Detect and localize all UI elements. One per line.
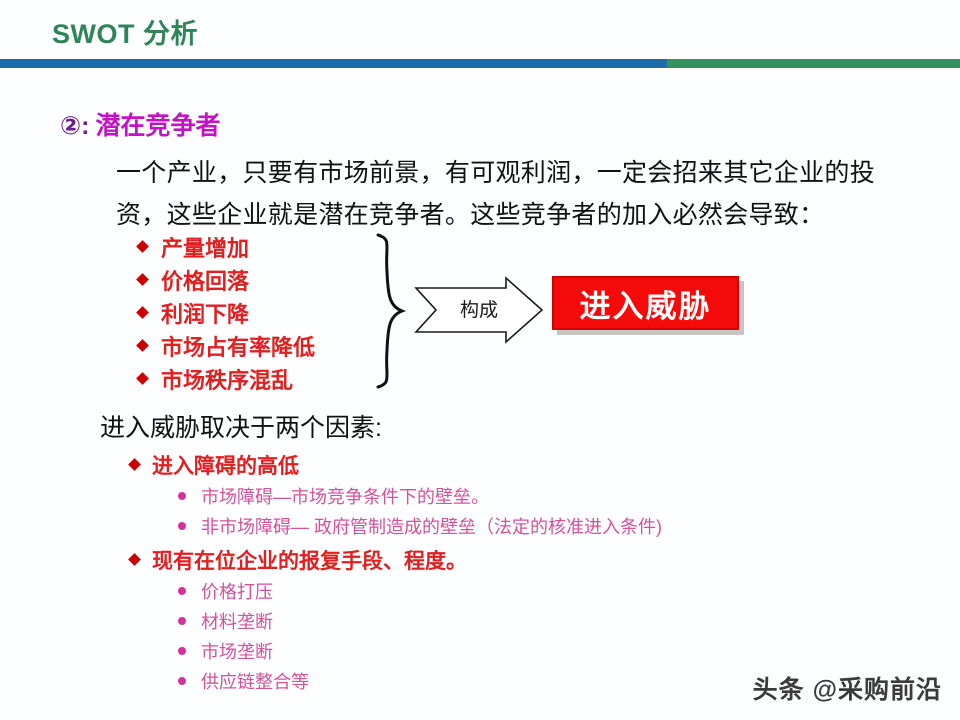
list-item-label: 市场占有率降低 bbox=[161, 330, 315, 362]
consequence-list: 产量增加 价格回落 利润下降 市场占有率降低 市场秩序混乱 bbox=[138, 230, 388, 395]
watermark: 头条 @采购前沿 bbox=[753, 670, 942, 706]
list-item: 市场障碍—市场竞争条件下的壁垒。 bbox=[178, 481, 860, 511]
list-item: 非市场障碍— 政府管制造成的壁垒（法定的核准进入条件) bbox=[178, 511, 860, 541]
diamond-bullet-icon bbox=[136, 306, 149, 319]
list-item-label: 市场秩序混乱 bbox=[161, 363, 293, 395]
list-item: 市场占有率降低 bbox=[138, 329, 388, 362]
factor-head-label: 现有在位企业的报复手段、程度。 bbox=[152, 545, 467, 575]
threat-callout-box: 进入威胁 bbox=[552, 276, 739, 330]
diamond-bullet-icon bbox=[128, 458, 141, 471]
header-rule-green-segment bbox=[667, 59, 960, 68]
header-divider-rule bbox=[0, 59, 960, 68]
factor-group: 现有在位企业的报复手段、程度。 价格打压 材料垄断 市场垄断 供应链整合等 bbox=[100, 543, 860, 696]
flow-arrow-label: 构成 bbox=[444, 295, 514, 322]
threat-callout-label: 进入威胁 bbox=[580, 281, 712, 326]
list-item-label: 产量增加 bbox=[161, 231, 249, 263]
round-bullet-icon bbox=[178, 617, 186, 625]
round-bullet-icon bbox=[178, 522, 186, 530]
slide-header: SWOT 分析 bbox=[0, 0, 960, 74]
diamond-bullet-icon bbox=[136, 339, 149, 352]
diamond-bullet-icon bbox=[136, 372, 149, 385]
diamond-bullet-icon bbox=[136, 273, 149, 286]
round-bullet-icon bbox=[178, 647, 186, 655]
header-rule-blue-segment bbox=[0, 59, 667, 68]
page-title: SWOT 分析 bbox=[52, 12, 198, 51]
list-item-label: 市场障碍—市场竞争条件下的壁垒。 bbox=[201, 483, 489, 509]
factors-list: 进入障碍的高低 市场障碍—市场竞争条件下的壁垒。 非市场障碍— 政府管制造成的壁… bbox=[100, 448, 860, 698]
list-item-label: 价格回落 bbox=[161, 264, 249, 296]
section-heading: ②:潜在竞争者 bbox=[60, 106, 221, 142]
list-item-label: 利润下降 bbox=[161, 297, 249, 329]
list-item: 价格回落 bbox=[138, 263, 388, 296]
list-item: 市场垄断 bbox=[178, 636, 860, 666]
list-item-label: 价格打压 bbox=[201, 578, 273, 604]
list-item-label: 非市场障碍— 政府管制造成的壁垒（法定的核准进入条件) bbox=[201, 513, 662, 539]
round-bullet-icon bbox=[178, 492, 186, 500]
round-bullet-icon bbox=[178, 587, 186, 595]
list-item: 产量增加 bbox=[138, 230, 388, 263]
round-bullet-icon bbox=[178, 677, 186, 685]
list-item: 价格打压 bbox=[178, 576, 860, 606]
slide-canvas: SWOT 分析 ②:潜在竞争者 一个产业，只要有市场前景，有可观利润，一定会招来… bbox=[0, 0, 960, 720]
factor-group: 进入障碍的高低 市场障碍—市场竞争条件下的壁垒。 非市场障碍— 政府管制造成的壁… bbox=[100, 448, 860, 541]
diamond-bullet-icon bbox=[136, 240, 149, 253]
list-item: 市场秩序混乱 bbox=[138, 362, 388, 395]
list-item-label: 市场垄断 bbox=[201, 638, 273, 664]
factors-title: 进入威胁取决于两个因素: bbox=[100, 408, 382, 444]
factor-head-label: 进入障碍的高低 bbox=[152, 450, 299, 480]
right-curly-brace-icon bbox=[372, 232, 408, 390]
list-item: 材料垄断 bbox=[178, 606, 860, 636]
diamond-bullet-icon bbox=[128, 553, 141, 566]
intro-paragraph: 一个产业，只要有市场前景，有可观利润，一定会招来其它企业的投资，这些企业就是潜在… bbox=[116, 152, 916, 236]
section-heading-label: 潜在竞争者 bbox=[96, 112, 221, 140]
list-item-label: 材料垄断 bbox=[201, 608, 273, 634]
list-item: 利润下降 bbox=[138, 296, 388, 329]
section-marker: ②: bbox=[60, 112, 90, 140]
factor-head: 进入障碍的高低 bbox=[130, 448, 860, 481]
factor-head: 现有在位企业的报复手段、程度。 bbox=[130, 543, 860, 576]
list-item-label: 供应链整合等 bbox=[201, 668, 309, 694]
